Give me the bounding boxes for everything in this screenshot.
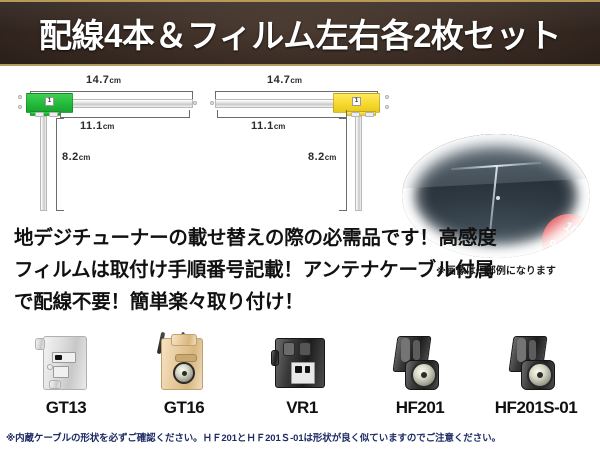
dim-11-1-left: 11.1cm (80, 120, 114, 132)
base-nub-top-left (18, 95, 22, 99)
pad-tab-b-left (49, 112, 58, 117)
description-line-3: で配線不要！簡単楽々取り付け！ (14, 286, 590, 318)
right-antenna-film: 14.7cm 1 11.1cm 8.2cm (205, 66, 405, 218)
bracket-11-1-right (217, 110, 347, 118)
gt13-label: GT13 (6, 398, 126, 418)
gt16-label: GT16 (124, 398, 244, 418)
pad-number-right: 1 (352, 97, 361, 106)
arm-end-nub-right (210, 101, 214, 105)
footnote: ※内蔵ケーブルの形状を必ずご確認ください。ＨＦ201とＨＦ201Ｓ-01は形状が… (6, 430, 600, 444)
product-image-page: 配線4本＆フィルム左右各2枚セット 14.7cm 1 11.1cm (0, 0, 600, 450)
dim-14-7-left: 14.7cm (86, 74, 121, 86)
dim-14-7-right: 14.7cm (267, 74, 302, 86)
hf201s01-label: HF201S-01 (476, 398, 596, 418)
connector-gt13: GT13 (6, 330, 126, 422)
description-line-1: 地デジチューナーの載せ替えの際の必需品です！高感度 (14, 222, 590, 254)
hf201s01-icon (505, 332, 567, 394)
connector-gt16: GT16 (124, 330, 244, 422)
arm-end-nub-left (193, 101, 197, 105)
vr1-icon (271, 332, 333, 394)
bracket-8-2-left (56, 118, 64, 211)
description-block: 地デジチューナーの載せ替えの際の必需品です！高感度 フィルムは取付け手順番号記載… (14, 222, 590, 318)
hf201-icon (389, 332, 451, 394)
dim-8-2-left: 8.2cm (62, 151, 90, 163)
base-nub-top-right (385, 95, 389, 99)
connector-hf201s01: HF201S-01 (476, 330, 596, 422)
pad-tab-b-right (365, 112, 374, 117)
connector-row: GT13 GT16 (0, 330, 600, 422)
hf201-label: HF201 (360, 398, 480, 418)
header-banner: 配線4本＆フィルム左右各2枚セット (0, 0, 600, 66)
gt16-icon (153, 332, 215, 394)
banner-title: 配線4本＆フィルム左右各2枚セット (0, 9, 600, 57)
base-nub-bottom-left (18, 105, 22, 109)
connector-hf201: HF201 (360, 330, 480, 422)
bracket-8-2-right (339, 118, 347, 211)
dim-8-2-right: 8.2cm (308, 151, 336, 163)
arm-vertical-left (40, 116, 47, 211)
description-line-2: フィルムは取付け手順番号記載！アンテナケーブル付属 (14, 254, 590, 286)
gt13-icon (35, 332, 97, 394)
pad-number-left: 1 (45, 97, 54, 106)
arm-vertical-right (355, 116, 362, 211)
dim-11-1-right: 11.1cm (251, 120, 285, 132)
base-nub-bottom-right (385, 105, 389, 109)
bracket-11-1-left (60, 110, 190, 118)
diagram-area: 14.7cm 1 11.1cm 8.2cm (0, 66, 600, 218)
left-antenna-film: 14.7cm 1 11.1cm 8.2cm (8, 66, 208, 218)
vr1-label: VR1 (242, 398, 362, 418)
connector-vr1: VR1 (242, 330, 362, 422)
